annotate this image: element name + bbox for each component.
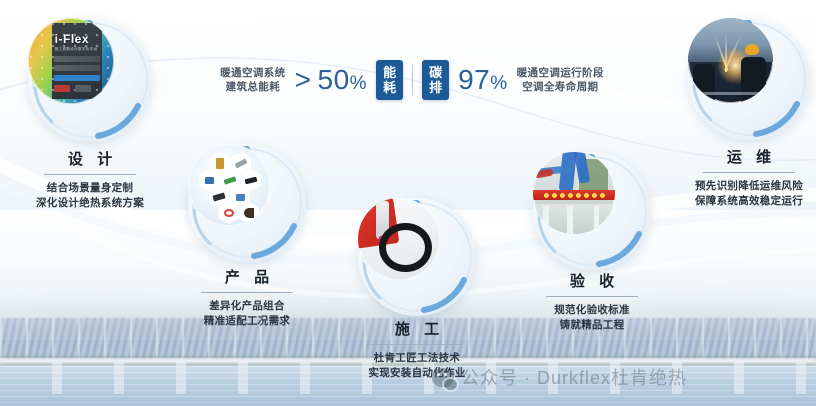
product-ring <box>188 144 306 262</box>
infographic-canvas: 暖通空调系统 建筑总能耗 > 50% 能 耗 碳 排 97% 暖通空调运行阶段 … <box>0 0 816 406</box>
operations-desc-line1: 预先识别降低运维风险 <box>649 179 816 194</box>
acceptance-ring <box>533 152 651 270</box>
stat-right-figure-value: 97 <box>458 64 490 95</box>
acceptance-title: 验 收 <box>492 272 692 292</box>
node-operations[interactable]: 运 维 预先识别降低运维风险 保障系统高效稳定运行 <box>688 18 810 140</box>
operations-worker <box>693 64 715 103</box>
operations-photo <box>688 18 773 103</box>
design-photo: i-Flex 施工参数设计数字化平台 <box>28 18 114 104</box>
stat-right-caption-line2: 空调全寿命周期 <box>517 80 604 95</box>
operations-ring <box>688 18 810 140</box>
construction-insulation-tube <box>379 223 431 272</box>
product-desc-line1: 差异化产品组合 <box>147 299 347 314</box>
acceptance-label: 验 收 规范化验收标准 铸就精品工程 <box>492 272 692 333</box>
design-iflex-subtitle: 施工参数设计数字化平台 <box>55 47 98 52</box>
design-chip <box>75 85 91 92</box>
product-title: 产 品 <box>147 268 347 288</box>
stat-right-figure: 97% <box>458 66 508 94</box>
operations-hardhat <box>745 44 759 55</box>
stat-left-caption-line2: 建筑总能耗 <box>220 80 285 95</box>
design-ui-chipbar <box>54 85 91 92</box>
design-desc-line2: 深化设计绝热系统方案 <box>0 196 190 211</box>
design-ui-row <box>54 65 100 71</box>
design-title: 设 计 <box>0 150 190 170</box>
stat-right-caption-line1: 暖通空调运行阶段 <box>517 66 604 81</box>
statistics-strip: 暖通空调系统 建筑总能耗 > 50% 能 耗 碳 排 97% 暖通空调运行阶段 … <box>212 56 612 104</box>
badge-energy-consumption: 能 耗 <box>376 60 403 100</box>
design-chip <box>54 85 70 92</box>
product-hex-grid <box>188 144 270 226</box>
design-desc-line1: 结合场景量身定制 <box>0 181 190 196</box>
construction-title: 施 工 <box>317 320 517 340</box>
operations-desc-line2: 保障系统高效稳定运行 <box>649 194 816 209</box>
design-label: 设 计 结合场景量身定制 深化设计绝热系统方案 <box>0 150 190 211</box>
acceptance-column <box>543 206 549 234</box>
badge-carbon-char2: 排 <box>429 80 442 95</box>
design-iflex-logo: i-Flex <box>55 32 89 46</box>
node-construction[interactable]: 施 工 杜肯工匠工法技术 实现安装自动化作业 <box>358 198 476 316</box>
acceptance-red-banner <box>533 190 615 201</box>
stat-right-caption: 暖通空调运行阶段 空调全寿命周期 <box>517 66 604 95</box>
stat-left-figure-value: > 50 <box>295 64 350 95</box>
operations-title: 运 维 <box>649 148 816 168</box>
badge-separator <box>412 65 413 95</box>
node-acceptance[interactable]: 验 收 规范化验收标准 铸就精品工程 <box>533 152 651 270</box>
node-design[interactable]: i-Flex 施工参数设计数字化平台 设 计 结合场景量身定制 深化设计绝热系统… <box>28 18 152 142</box>
operations-label: 运 维 预先识别降低运维风险 保障系统高效稳定运行 <box>649 148 816 209</box>
design-ui-row-highlight <box>54 75 100 81</box>
acceptance-rule <box>546 296 638 297</box>
acceptance-column <box>567 206 573 234</box>
wechat-icon <box>432 368 454 387</box>
design-ring: i-Flex 施工参数设计数字化平台 <box>28 18 152 142</box>
operations-rule <box>703 172 795 173</box>
construction-photo <box>358 198 440 280</box>
stat-right-figure-unit: % <box>490 73 507 94</box>
stat-left-figure: > 50% <box>295 66 368 94</box>
acceptance-column <box>594 206 600 234</box>
stat-left-caption: 暖通空调系统 建筑总能耗 <box>220 66 285 95</box>
stat-left-figure-unit: % <box>350 73 367 94</box>
construction-rule <box>371 344 463 345</box>
acceptance-desc-line2: 铸就精品工程 <box>492 318 692 333</box>
watermark-text: 公众号 · Durkflex杜肯绝热 <box>461 364 687 390</box>
operations-worker <box>741 57 767 103</box>
product-photo <box>188 144 270 226</box>
design-rule <box>44 174 136 175</box>
stat-left-caption-line1: 暖通空调系统 <box>220 66 285 81</box>
badge-energy-char2: 耗 <box>383 80 396 95</box>
operations-rail <box>697 92 765 95</box>
watermark: 公众号 · Durkflex杜肯绝热 <box>432 364 687 390</box>
badge-carbon-emission: 碳 排 <box>422 60 449 100</box>
product-rule <box>201 292 293 293</box>
construction-ring <box>358 198 476 316</box>
design-ui-row <box>54 56 100 62</box>
acceptance-desc-line1: 规范化验收标准 <box>492 303 692 318</box>
acceptance-photo <box>533 152 615 234</box>
badge-carbon-char1: 碳 <box>429 65 442 80</box>
badge-energy-char1: 能 <box>383 65 396 80</box>
node-product[interactable]: 产 品 差异化产品组合 精准适配工况需求 <box>188 144 306 262</box>
